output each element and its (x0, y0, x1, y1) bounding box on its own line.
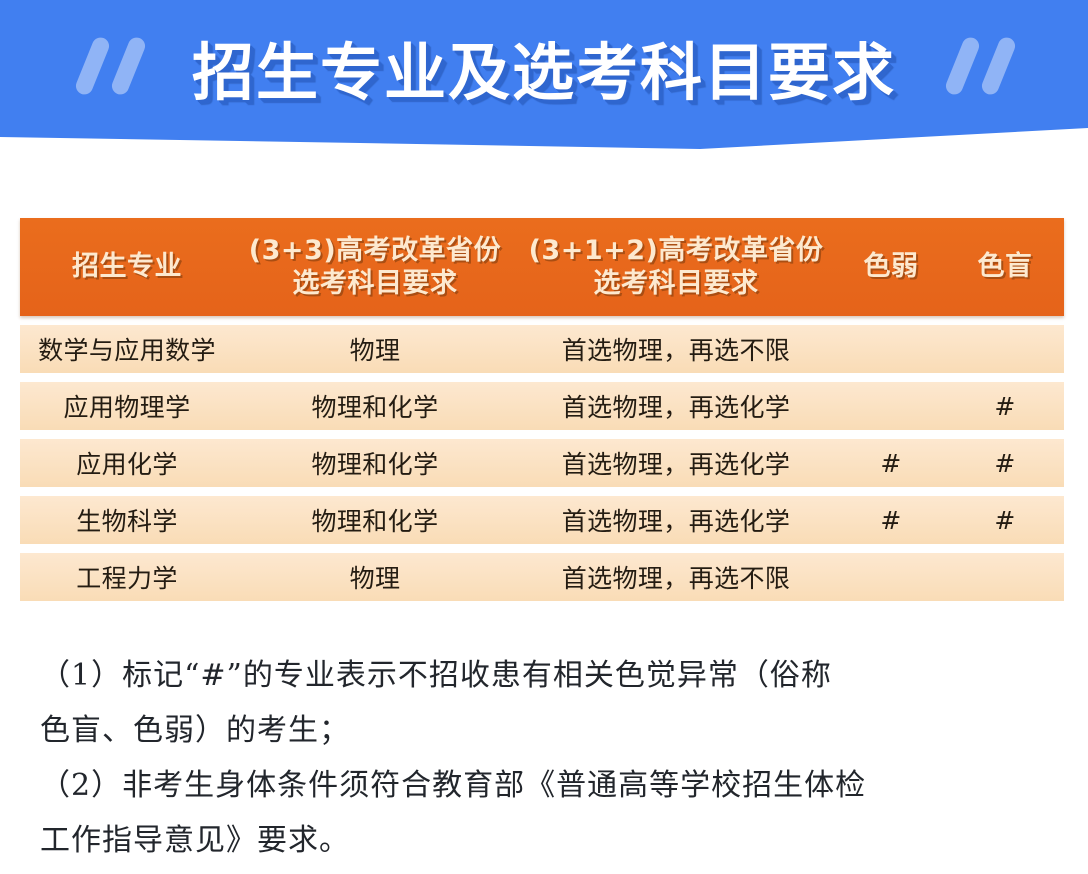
cell-major: 应用化学 (20, 445, 234, 481)
footnote-1-line-1: （1）标记“#”的专业表示不招收患有相关色觉异常（俗称 (40, 648, 1060, 703)
table-row: 应用物理学 物理和化学 首选物理，再选化学 # (20, 382, 1064, 430)
cell-major: 生物科学 (20, 502, 234, 538)
cell-req-33: 物理和化学 (234, 388, 516, 424)
cell-req-312: 首选物理，再选不限 (516, 559, 836, 595)
cell-color-blindness: # (946, 392, 1064, 421)
cell-major: 工程力学 (20, 559, 234, 595)
cell-major: 应用物理学 (20, 388, 234, 424)
slash-mark (943, 35, 981, 97)
cell-req-33: 物理 (234, 559, 516, 595)
column-header-33-line2: 选考科目要求 (234, 267, 516, 300)
column-header-major: 招生专业 (20, 250, 234, 283)
cell-req-312: 首选物理，再选化学 (516, 445, 836, 481)
cell-req-33: 物理和化学 (234, 502, 516, 538)
cell-color-blindness: # (946, 449, 1064, 478)
column-header-color-blindness: 色盲 (946, 250, 1064, 283)
table-row: 应用化学 物理和化学 首选物理，再选化学 # # (20, 439, 1064, 487)
cell-color-weakness: # (836, 506, 946, 535)
footnote-1-line-2: 色盲、色弱）的考生； (40, 703, 1060, 758)
footnote-2-line-2: 工作指导意见》要求。 (40, 813, 1060, 868)
admission-majors-table: 招生专业 (3+3)高考改革省份 选考科目要求 (3+1+2)高考改革省份 选考… (20, 218, 1064, 601)
cell-req-312: 首选物理，再选化学 (516, 502, 836, 538)
column-header-312-line1: (3+1+2)高考改革省份 (516, 234, 836, 267)
table-row: 生物科学 物理和化学 首选物理，再选化学 # # (20, 496, 1064, 544)
page-title: 招生专业及选考科目要求 (0, 22, 1088, 112)
page-header-banner: 招生专业及选考科目要求 (0, 0, 1088, 152)
cell-req-312: 首选物理，再选化学 (516, 388, 836, 424)
column-header-33-requirement: (3+3)高考改革省份 选考科目要求 (234, 234, 516, 301)
column-header-color-weakness: 色弱 (836, 250, 946, 283)
footnote-2-line-1: （2）非考生身体条件须符合教育部《普通高等学校招生体检 (40, 758, 1060, 813)
cell-req-33: 物理和化学 (234, 445, 516, 481)
table-header-row: 招生专业 (3+3)高考改革省份 选考科目要求 (3+1+2)高考改革省份 选考… (20, 218, 1064, 316)
cell-color-weakness: # (836, 449, 946, 478)
table-row: 数学与应用数学 物理 首选物理，再选不限 (20, 325, 1064, 373)
cell-major: 数学与应用数学 (20, 331, 234, 367)
cell-req-312: 首选物理，再选不限 (516, 331, 836, 367)
slash-mark (979, 35, 1017, 97)
table-row: 工程力学 物理 首选物理，再选不限 (20, 553, 1064, 601)
double-slash-icon-right (948, 36, 1068, 98)
cell-color-blindness: # (946, 506, 1064, 535)
footnotes: （1）标记“#”的专业表示不招收患有相关色觉异常（俗称 色盲、色弱）的考生； （… (40, 648, 1060, 868)
column-header-33-line1: (3+3)高考改革省份 (234, 234, 516, 267)
column-header-312-requirement: (3+1+2)高考改革省份 选考科目要求 (516, 234, 836, 301)
cell-req-33: 物理 (234, 331, 516, 367)
column-header-312-line2: 选考科目要求 (516, 267, 836, 300)
